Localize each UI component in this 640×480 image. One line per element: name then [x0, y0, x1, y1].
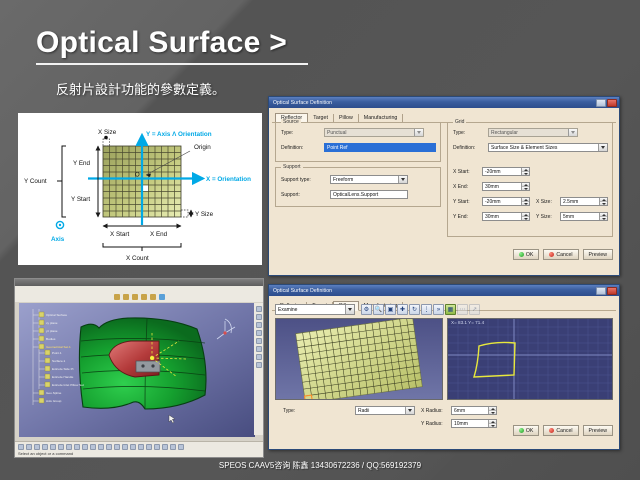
catia-tool-icon[interactable] [66, 444, 72, 450]
svg-text:O: O [135, 173, 140, 179]
close-icon[interactable] [607, 99, 617, 107]
title-block: Optical Surface > [36, 28, 308, 65]
y-end-input[interactable]: 30mm [482, 212, 530, 221]
catia-tool-icon[interactable] [170, 444, 176, 450]
catia-tool-icon[interactable] [132, 294, 138, 300]
coordinate-readout: X= 83.1 Y= 71.4 [451, 320, 484, 325]
svg-text:Point.1: Point.1 [52, 351, 62, 355]
dialog2-title: Optical Surface Definition [271, 288, 596, 294]
cancel-label: Cancel [556, 252, 572, 258]
svg-text:Extrude Inlet Pillow Set: Extrude Inlet Pillow Set [52, 383, 84, 387]
x-radius-input[interactable]: 6mm [451, 406, 497, 415]
pan-icon[interactable]: ✚ [397, 304, 408, 315]
catia-tool-icon[interactable] [138, 444, 144, 450]
dialog1-window-buttons[interactable] [596, 99, 617, 107]
preview-label: Preview [589, 428, 607, 434]
svg-text:Y = Axis Λ Orientation: Y = Axis Λ Orientation [146, 131, 212, 138]
catia-tool-icon[interactable] [98, 444, 104, 450]
tab-pillow[interactable]: Pillow [334, 114, 359, 122]
cancel-label: Cancel [556, 428, 572, 434]
x-radius-stepper[interactable] [488, 407, 496, 414]
x-end-value: 30mm [485, 184, 499, 190]
svg-text:Extrude Side Pt: Extrude Side Pt [52, 367, 74, 371]
y-radius-value: 10mm [454, 421, 468, 427]
svg-text:Y Count: Y Count [24, 178, 47, 185]
page-title: Optical Surface > [36, 28, 308, 58]
examine-mode-combo[interactable]: Examine [275, 304, 355, 315]
y-radius-label: Y Radius: [421, 421, 443, 427]
catia-tool-icon[interactable] [141, 294, 147, 300]
svg-text:X Size: X Size [98, 129, 117, 136]
x-radius-label: X Radius: [421, 408, 443, 414]
svg-text:Y Start: Y Start [71, 196, 90, 203]
catia-tool-icon[interactable] [114, 294, 120, 300]
dialog2-window-buttons[interactable] [596, 287, 617, 295]
grid-toggle-icon[interactable]: ▦ [445, 304, 456, 315]
optical-surface-definition-dialog-2[interactable]: Optical Surface Definition Reflector Tar… [268, 284, 620, 450]
close-icon[interactable] [607, 287, 617, 295]
y-size-value: 5mm [563, 214, 574, 220]
svg-text:Extrude Handle: Extrude Handle [52, 375, 74, 379]
catia-tool-icon[interactable] [178, 444, 184, 450]
source-definition-input[interactable]: Point Ref [324, 143, 436, 152]
rotate-icon[interactable]: ↻ [409, 304, 420, 315]
catia-3d-screenshot[interactable]: Optical Surface xy plane yz plane Bodies… [14, 278, 264, 458]
svg-text:Y End: Y End [73, 160, 91, 167]
catia-tool-icon[interactable] [256, 346, 262, 352]
pillow-type-label: Type: [283, 408, 295, 414]
catia-tool-icon[interactable] [42, 444, 48, 450]
subtitle: 反射片設計功能的參數定義。 [56, 79, 225, 98]
chevron-down-icon[interactable] [345, 305, 354, 314]
support-type-value: Freeform [333, 177, 353, 183]
svg-text:X Start: X Start [110, 231, 129, 238]
svg-text:X = Orientation: X = Orientation [206, 176, 251, 183]
grid-type-value: Rectangular [491, 130, 518, 136]
catia-title-bar [15, 279, 263, 286]
y-start-input[interactable]: -20mm [482, 197, 530, 206]
grid-parameter-diagram: O Origin X = Orientation Y = Axis Λ Orie… [18, 113, 262, 265]
svg-text:Origin: Origin [194, 144, 211, 151]
svg-text:Geometrical Set.1: Geometrical Set.1 [46, 345, 71, 349]
y-size-input[interactable]: 5mm [560, 212, 608, 221]
support-type-combo[interactable]: Freeform [330, 175, 408, 184]
next-icon[interactable]: » [433, 304, 444, 315]
catia-tool-icon[interactable] [122, 444, 128, 450]
zoom-icon[interactable]: 🔍 [373, 304, 384, 315]
catia-tool-icon[interactable] [154, 444, 160, 450]
catia-tool-icon[interactable] [150, 294, 156, 300]
catia-tool-icon[interactable] [256, 322, 262, 328]
source-type-combo[interactable]: Punctual [324, 128, 424, 137]
x-size-value: 2.5mm [563, 199, 578, 205]
settings-gear-icon[interactable]: ⚙ [361, 304, 372, 315]
svg-text:Axis: Axis [51, 236, 65, 243]
svg-text:Axis Group: Axis Group [46, 399, 62, 403]
support-label: Support: [281, 192, 300, 198]
catia-bottom-toolbar[interactable] [15, 442, 263, 451]
fit-icon[interactable]: ⋮ [421, 304, 432, 315]
grid-group-label: Grid [453, 119, 466, 125]
catia-bottom-bar: Select an object or a command [15, 441, 263, 457]
dialog2-title-bar[interactable]: Optical Surface Definition [269, 285, 619, 296]
source-type-value: Punctual [327, 130, 346, 136]
ok-label: OK [526, 428, 534, 434]
source-group-label: Source [281, 119, 301, 125]
preview-label: Preview [589, 252, 607, 258]
catia-toolbar[interactable] [15, 292, 263, 302]
preview-button[interactable]: Preview [583, 425, 613, 436]
dialog2-toolbar[interactable]: ⚙ 🔍 ▣ ✚ ↻ ⋮ » ▦ ⋯ ↗ [361, 304, 480, 315]
catia-status-text: Select an object or a command [15, 451, 263, 456]
ok-icon [519, 428, 524, 433]
grid-type-combo[interactable]: Rectangular [488, 128, 578, 137]
catia-tool-icon[interactable] [256, 314, 262, 320]
dialog1-title-bar[interactable]: Optical Surface Definition [269, 97, 619, 108]
preview-button[interactable]: Preview [583, 249, 613, 260]
chevron-down-icon[interactable] [398, 176, 407, 183]
export-icon[interactable]: ↗ [469, 304, 480, 315]
x-start-input[interactable]: -20mm [482, 167, 530, 176]
grid-definition-value: Surface Size & Element Sizes [491, 145, 557, 151]
y-radius-stepper[interactable] [488, 420, 496, 427]
grid-group: Grid Type: Rectangular Definition: Surfa… [447, 122, 613, 237]
svg-text:yz plane: yz plane [46, 329, 58, 333]
support-group: Support Support type: Freeform Support: … [275, 167, 441, 207]
y-end-stepper[interactable] [521, 213, 529, 220]
measure-icon[interactable]: ⋯ [457, 304, 468, 315]
source-definition-label: Definition: [281, 145, 303, 151]
pillow-2d-preview[interactable] [447, 318, 613, 400]
grid-definition-combo[interactable]: Surface Size & Element Sizes [488, 143, 608, 152]
x-size-label: X Size: [536, 199, 552, 205]
x-end-input[interactable]: 30mm [482, 182, 530, 191]
catia-tool-icon[interactable] [18, 444, 24, 450]
catia-tool-icon[interactable] [256, 338, 262, 344]
catia-tool-icon[interactable] [106, 444, 112, 450]
svg-text:X End: X End [150, 231, 168, 238]
zoom-window-icon[interactable]: ▣ [385, 304, 396, 315]
catia-tool-icon[interactable] [146, 444, 152, 450]
support-type-label: Support type: [281, 177, 311, 183]
footer-contact: SPEOS CAAV5咨询 陈鑫 13430672236 / QQ:569192… [0, 460, 640, 471]
chevron-down-icon[interactable] [414, 129, 423, 136]
y-size-label: Y Size: [536, 214, 552, 220]
tab-target[interactable]: Target [308, 114, 334, 122]
catia-tool-icon[interactable] [256, 354, 262, 360]
catia-tool-icon[interactable] [82, 444, 88, 450]
dialog1-body: Reflector Target Pillow Manufacturing So… [269, 108, 619, 126]
catia-tool-icon[interactable] [26, 444, 32, 450]
minimize-icon[interactable] [596, 287, 606, 295]
catia-tool-icon[interactable] [90, 444, 96, 450]
pillow-type-combo[interactable]: Radii [355, 406, 415, 415]
title-underline [36, 63, 308, 65]
pillow-3d-preview[interactable] [275, 318, 443, 400]
y-end-label: Y End: [453, 214, 468, 220]
svg-text:Y Size: Y Size [195, 211, 214, 218]
source-group: Source Type: Punctual Definition: Point … [275, 122, 441, 162]
dialog1-title: Optical Surface Definition [271, 100, 596, 106]
support-input[interactable]: OpticalLens.Support [330, 190, 408, 199]
catia-viewport[interactable]: Optical Surface xy plane yz plane Bodies… [19, 303, 253, 435]
y-start-stepper[interactable] [521, 198, 529, 205]
y-start-value: -20mm [485, 199, 501, 205]
x-start-stepper[interactable] [521, 168, 529, 175]
svg-text:X Count: X Count [126, 255, 149, 262]
x-start-value: -20mm [485, 169, 501, 175]
svg-text:xy plane: xy plane [46, 321, 58, 325]
catia-tool-icon[interactable] [34, 444, 40, 450]
y-size-stepper[interactable] [599, 213, 607, 220]
catia-tool-icon[interactable] [159, 294, 165, 300]
cancel-button[interactable]: Cancel [543, 249, 578, 260]
svg-text:Optical Surface: Optical Surface [46, 313, 67, 317]
dialog1-buttons[interactable]: OK Cancel Preview [513, 249, 613, 260]
catia-tool-icon[interactable] [74, 444, 80, 450]
x-radius-value: 6mm [454, 408, 465, 414]
svg-text:Bodies: Bodies [46, 337, 56, 341]
catia-tool-icon[interactable] [256, 362, 262, 368]
y-end-value: 30mm [485, 214, 499, 220]
svg-text:Surface.1: Surface.1 [52, 359, 66, 363]
catia-tool-icon[interactable] [58, 444, 64, 450]
x-end-stepper[interactable] [521, 183, 529, 190]
catia-tool-icon[interactable] [50, 444, 56, 450]
catia-tool-icon[interactable] [256, 306, 262, 312]
catia-tool-icon[interactable] [123, 294, 129, 300]
chevron-down-icon[interactable] [598, 144, 607, 151]
x-end-label: X End: [453, 184, 468, 190]
dialog2-buttons[interactable]: OK Cancel Preview [513, 425, 613, 436]
pillow-type-value: Radii [358, 408, 369, 414]
catia-tool-icon[interactable] [130, 444, 136, 450]
x-size-stepper[interactable] [599, 198, 607, 205]
chevron-down-icon[interactable] [568, 129, 577, 136]
svg-text:Geo.Spline: Geo.Spline [46, 391, 62, 395]
x-size-input[interactable]: 2.5mm [560, 197, 608, 206]
ok-icon [519, 252, 524, 257]
source-type-label: Type: [281, 130, 293, 136]
grid-type-label: Type: [453, 130, 465, 136]
chevron-down-icon[interactable] [405, 407, 414, 414]
ok-label: OK [526, 252, 534, 258]
dialog2-body: Reflector Target Pillow Manufacturing Ex… [269, 296, 619, 314]
ok-button[interactable]: OK [513, 425, 540, 436]
catia-right-toolbar[interactable] [254, 303, 263, 435]
tab-manufacturing[interactable]: Manufacturing [359, 114, 404, 122]
cancel-icon [549, 428, 554, 433]
minimize-icon[interactable] [596, 99, 606, 107]
grid-definition-label: Definition: [453, 145, 475, 151]
catia-tool-icon[interactable] [114, 444, 120, 450]
y-radius-input[interactable]: 10mm [451, 419, 497, 428]
support-value: OpticalLens.Support [333, 192, 378, 198]
y-start-label: Y Start: [453, 199, 470, 205]
x-start-label: X Start: [453, 169, 470, 175]
examine-mode-value: Examine [278, 307, 297, 313]
source-definition-value: Point Ref [327, 145, 348, 151]
cancel-icon [549, 252, 554, 257]
ok-button[interactable]: OK [513, 249, 540, 260]
support-group-label: Support [281, 164, 303, 170]
catia-tool-icon[interactable] [256, 330, 262, 336]
cancel-button[interactable]: Cancel [543, 425, 578, 436]
optical-surface-definition-dialog-1[interactable]: Optical Surface Definition Reflector Tar… [268, 96, 620, 276]
catia-tool-icon[interactable] [162, 444, 168, 450]
